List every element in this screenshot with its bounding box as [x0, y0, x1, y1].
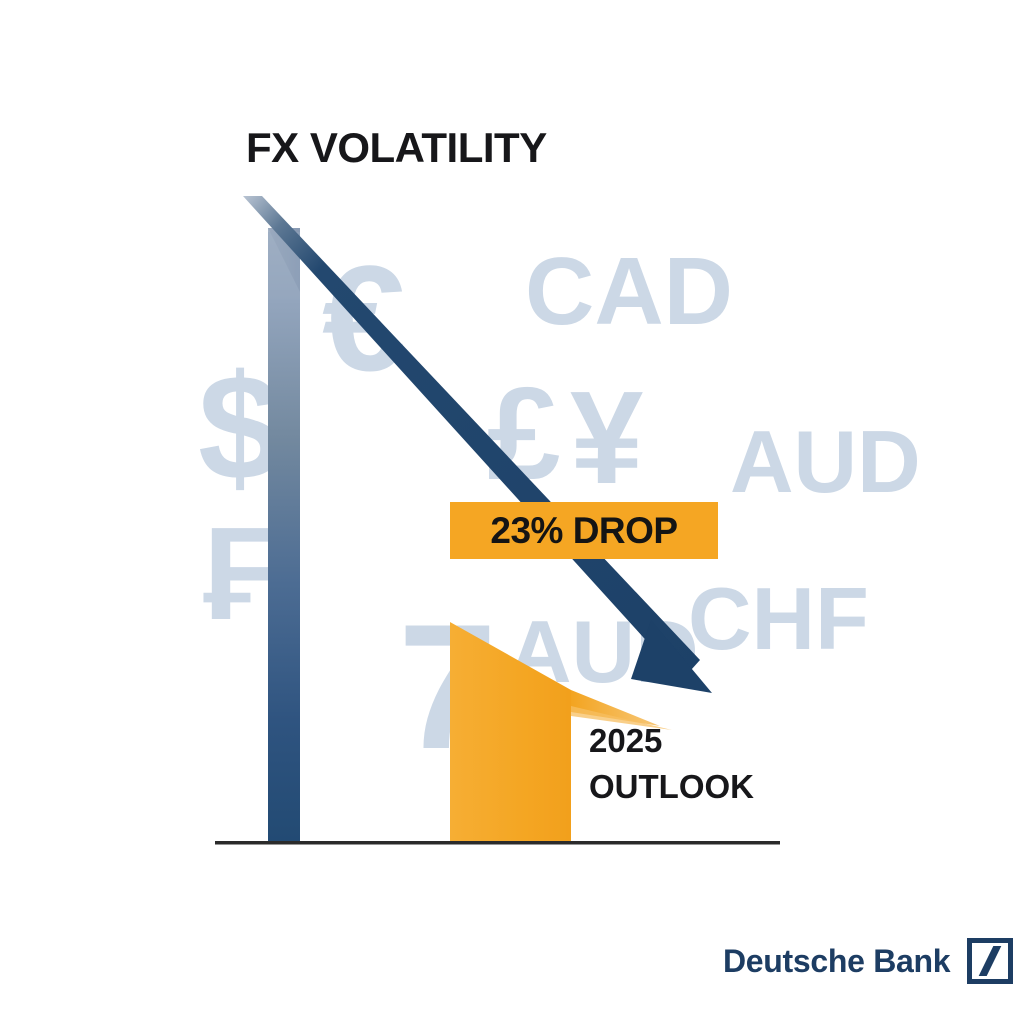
- trend-arrow-down: [243, 196, 712, 693]
- bar-navy-current: [256, 228, 300, 843]
- outlook-word: OUTLOOK: [589, 764, 754, 810]
- drop-callout-label: 23% DROP: [490, 510, 677, 552]
- outlook-caption: 2025 OUTLOOK: [589, 718, 754, 809]
- infographic-canvas: € $ £ ¥ ₣ 7 CAD AUD CHF AUD: [0, 0, 1024, 1024]
- slash-glyph: [979, 946, 1002, 976]
- drop-callout-badge: 23% DROP: [450, 502, 718, 559]
- baseline-axis: [215, 841, 780, 845]
- brand-logo: Deutsche Bank: [723, 938, 1013, 984]
- deutsche-bank-slash-icon: [967, 938, 1013, 984]
- page-title: FX VOLATILITY: [246, 124, 547, 172]
- brand-wordmark: Deutsche Bank: [723, 943, 950, 980]
- outlook-year: 2025: [589, 718, 754, 764]
